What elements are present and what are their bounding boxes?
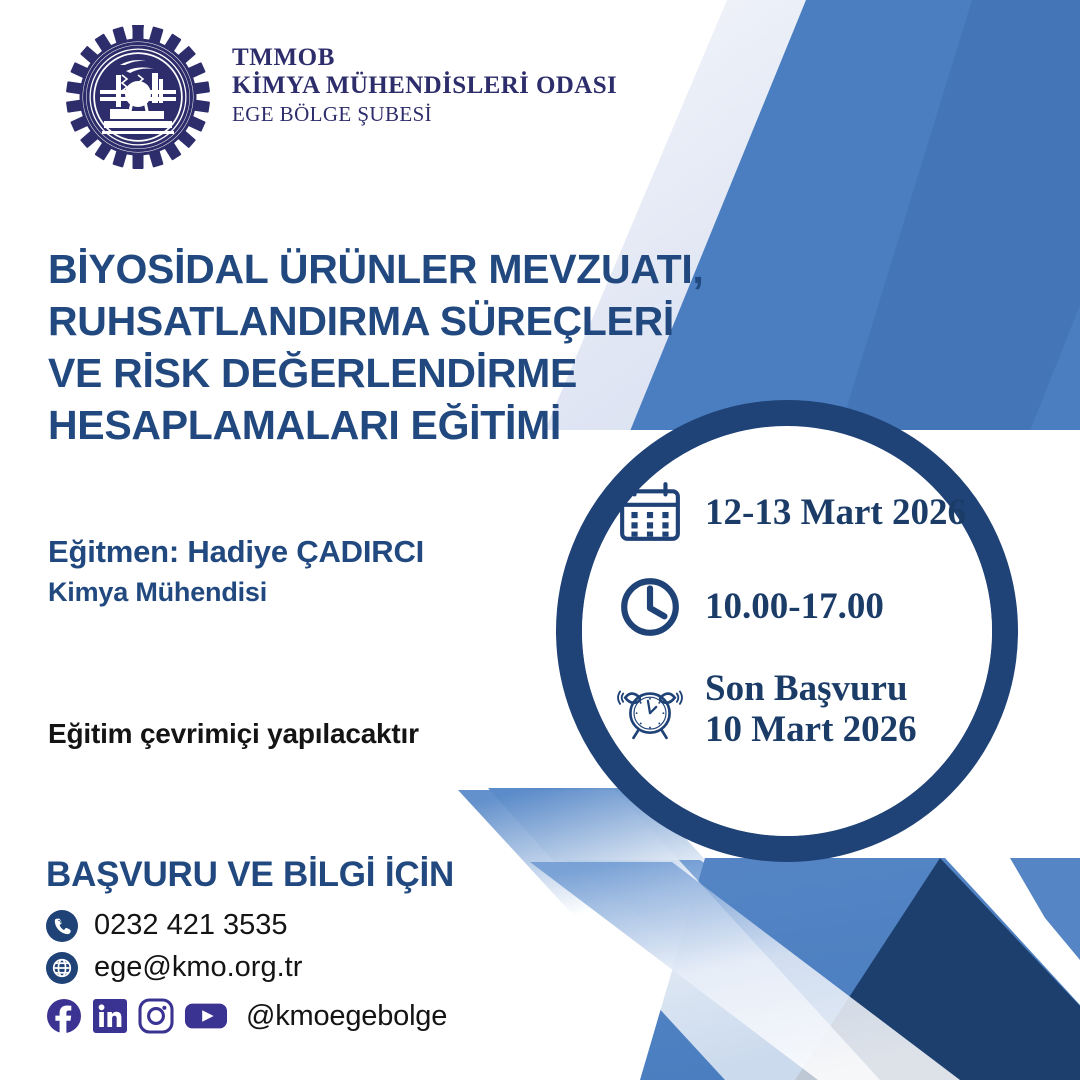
org-line-1: TMMOB <box>232 44 617 72</box>
org-line-3: EGE BÖLGE ŞUBESİ <box>232 101 617 128</box>
alarm-clock-icon <box>617 676 683 742</box>
email-value: ege@kmo.org.tr <box>94 951 302 984</box>
event-details-block: 12-13 Mart 2026 10.00-17.00 <box>617 480 966 751</box>
org-line-2: KİMYA MÜHENDİSLERİ ODASI <box>232 72 617 101</box>
instagram-icon[interactable] <box>138 998 174 1034</box>
linkedin-icon[interactable] <box>92 998 128 1034</box>
youtube-icon[interactable] <box>184 998 228 1034</box>
contact-row-email[interactable]: ege@kmo.org.tr <box>46 951 454 984</box>
bottom-left-light-chevron <box>458 790 960 1080</box>
phone-icon <box>46 910 78 942</box>
organization-logo-block: TMMOB KİMYA MÜHENDİSLERİ ODASI EGE BÖLGE… <box>58 22 617 172</box>
detail-row-time: 10.00-17.00 <box>617 574 966 640</box>
detail-deadline-text: Son Başvuru 10 Mart 2026 <box>705 668 917 751</box>
trainer-role: Kimya Mühendisi <box>48 574 424 611</box>
contact-heading: BAŞVURU VE BİLGİ İÇİN <box>46 855 454 895</box>
trainer-name: Eğitmen: Hadiye ÇADIRCI <box>48 531 424 574</box>
detail-date-value: 12-13 Mart 2026 <box>705 492 966 533</box>
globe-icon <box>46 952 78 984</box>
online-note: Eğitim çevrimiçi yapılacaktır <box>48 718 419 750</box>
contact-block: BAŞVURU VE BİLGİ İÇİN 0232 421 3535 <box>46 855 454 1034</box>
detail-deadline-label: Son Başvuru <box>705 668 917 709</box>
title-line-4: HESAPLAMALARI EĞİTİMİ <box>48 399 748 451</box>
facebook-icon[interactable] <box>46 998 82 1034</box>
tmmob-gear-emblem-icon <box>58 22 218 172</box>
detail-deadline-value: 10 Mart 2026 <box>705 709 917 750</box>
detail-time-value: 10.00-17.00 <box>705 586 884 627</box>
poster-canvas: TMMOB KİMYA MÜHENDİSLERİ ODASI EGE BÖLGE… <box>0 0 1080 1080</box>
calendar-icon <box>617 480 683 546</box>
bottom-chevron-shapes <box>488 788 1080 1080</box>
clock-icon <box>617 574 683 640</box>
detail-row-date: 12-13 Mart 2026 <box>617 480 966 546</box>
social-row: @kmoegebolge <box>46 998 454 1034</box>
detail-row-deadline: Son Başvuru 10 Mart 2026 <box>617 668 966 751</box>
title-line-3: VE RİSK DEĞERLENDİRME <box>48 347 748 399</box>
organization-name: TMMOB KİMYA MÜHENDİSLERİ ODASI EGE BÖLGE… <box>232 22 617 128</box>
bottom-right-arrow-shapes <box>585 780 1080 1080</box>
social-handle: @kmoegebolge <box>246 1000 447 1033</box>
trainer-block: Eğitmen: Hadiye ÇADIRCI Kimya Mühendisi <box>48 531 424 611</box>
title-line-1: BİYOSİDAL ÜRÜNLER MEVZUATI, <box>48 243 748 295</box>
event-title: BİYOSİDAL ÜRÜNLER MEVZUATI, RUHSATLANDIR… <box>48 243 748 451</box>
title-line-2: RUHSATLANDIRMA SÜREÇLERİ <box>48 295 748 347</box>
phone-value: 0232 421 3535 <box>94 909 288 942</box>
contact-row-phone[interactable]: 0232 421 3535 <box>46 909 454 942</box>
